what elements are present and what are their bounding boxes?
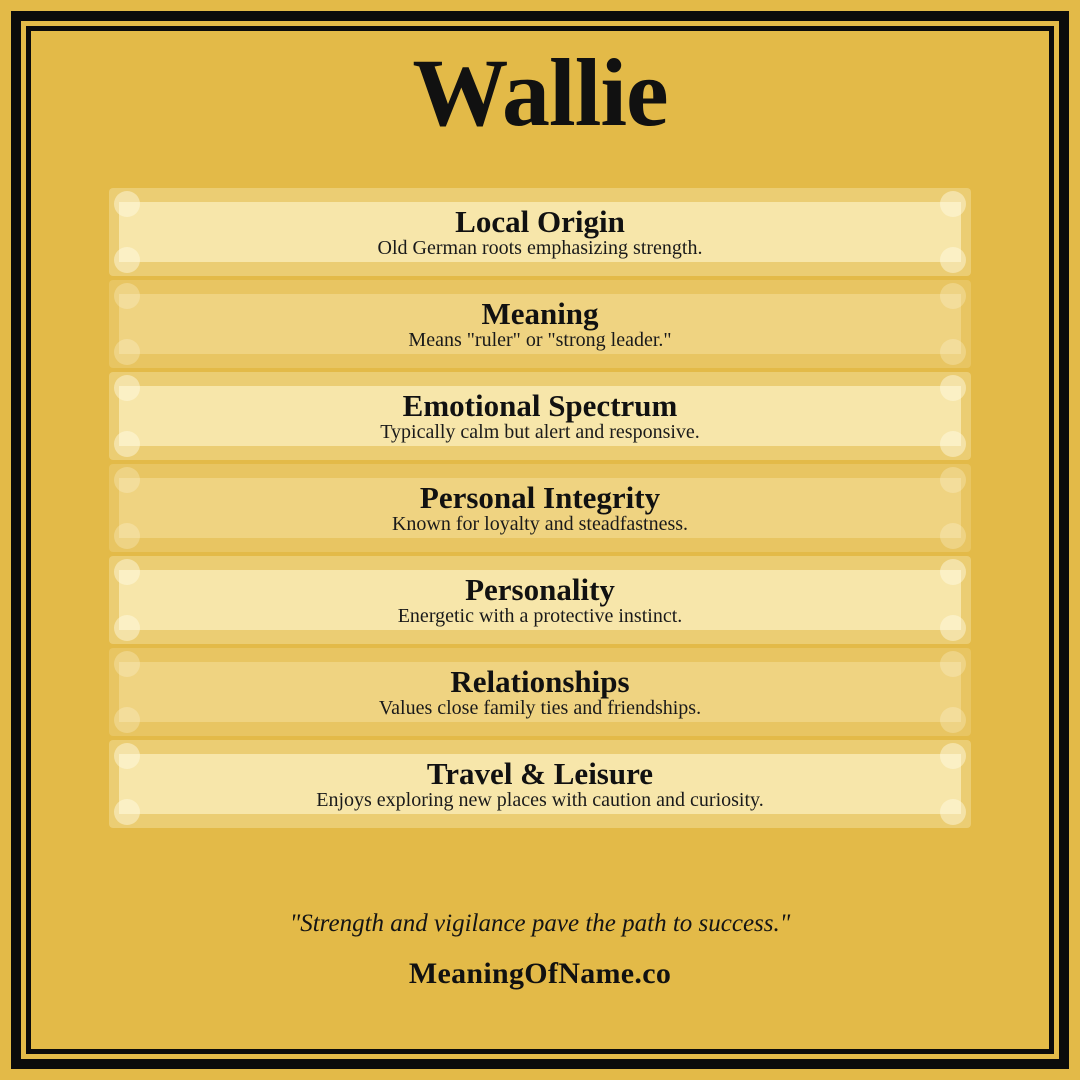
card-text: Relationships Values close family ties a… xyxy=(109,666,971,718)
attribute-card: Personal Integrity Known for loyalty and… xyxy=(109,464,971,552)
card-description: Old German roots emphasizing strength. xyxy=(109,238,971,258)
page-title: Wallie xyxy=(31,45,1049,141)
card-title: Local Origin xyxy=(109,206,971,237)
card-title: Travel & Leisure xyxy=(109,758,971,789)
card-text: Travel & Leisure Enjoys exploring new pl… xyxy=(109,758,971,810)
attribute-card: Personality Energetic with a protective … xyxy=(109,556,971,644)
card-description: Means "ruler" or "strong leader." xyxy=(109,330,971,350)
infographic-page: Wallie Local Origin Old German roots emp… xyxy=(31,31,1049,1049)
card-description: Enjoys exploring new places with caution… xyxy=(109,790,971,810)
card-title: Relationships xyxy=(109,666,971,697)
card-title: Meaning xyxy=(109,298,971,329)
attribute-card-list: Local Origin Old German roots emphasizin… xyxy=(109,188,971,828)
card-text: Emotional Spectrum Typically calm but al… xyxy=(109,390,971,442)
card-title: Emotional Spectrum xyxy=(109,390,971,421)
card-text: Meaning Means "ruler" or "strong leader.… xyxy=(109,298,971,350)
card-title: Personality xyxy=(109,574,971,605)
card-description: Known for loyalty and steadfastness. xyxy=(109,514,971,534)
footer-quote: "Strength and vigilance pave the path to… xyxy=(31,910,1049,938)
footer: "Strength and vigilance pave the path to… xyxy=(31,910,1049,991)
card-description: Energetic with a protective instinct. xyxy=(109,606,971,626)
attribute-card: Meaning Means "ruler" or "strong leader.… xyxy=(109,280,971,368)
attribute-card: Travel & Leisure Enjoys exploring new pl… xyxy=(109,740,971,828)
card-text: Personality Energetic with a protective … xyxy=(109,574,971,626)
attribute-card: Local Origin Old German roots emphasizin… xyxy=(109,188,971,276)
footer-brand: MeaningOfName.co xyxy=(31,957,1049,991)
attribute-card: Emotional Spectrum Typically calm but al… xyxy=(109,372,971,460)
card-title: Personal Integrity xyxy=(109,482,971,513)
card-description: Typically calm but alert and responsive. xyxy=(109,422,971,442)
card-text: Local Origin Old German roots emphasizin… xyxy=(109,206,971,258)
attribute-card: Relationships Values close family ties a… xyxy=(109,648,971,736)
card-description: Values close family ties and friendships… xyxy=(109,698,971,718)
card-text: Personal Integrity Known for loyalty and… xyxy=(109,482,971,534)
